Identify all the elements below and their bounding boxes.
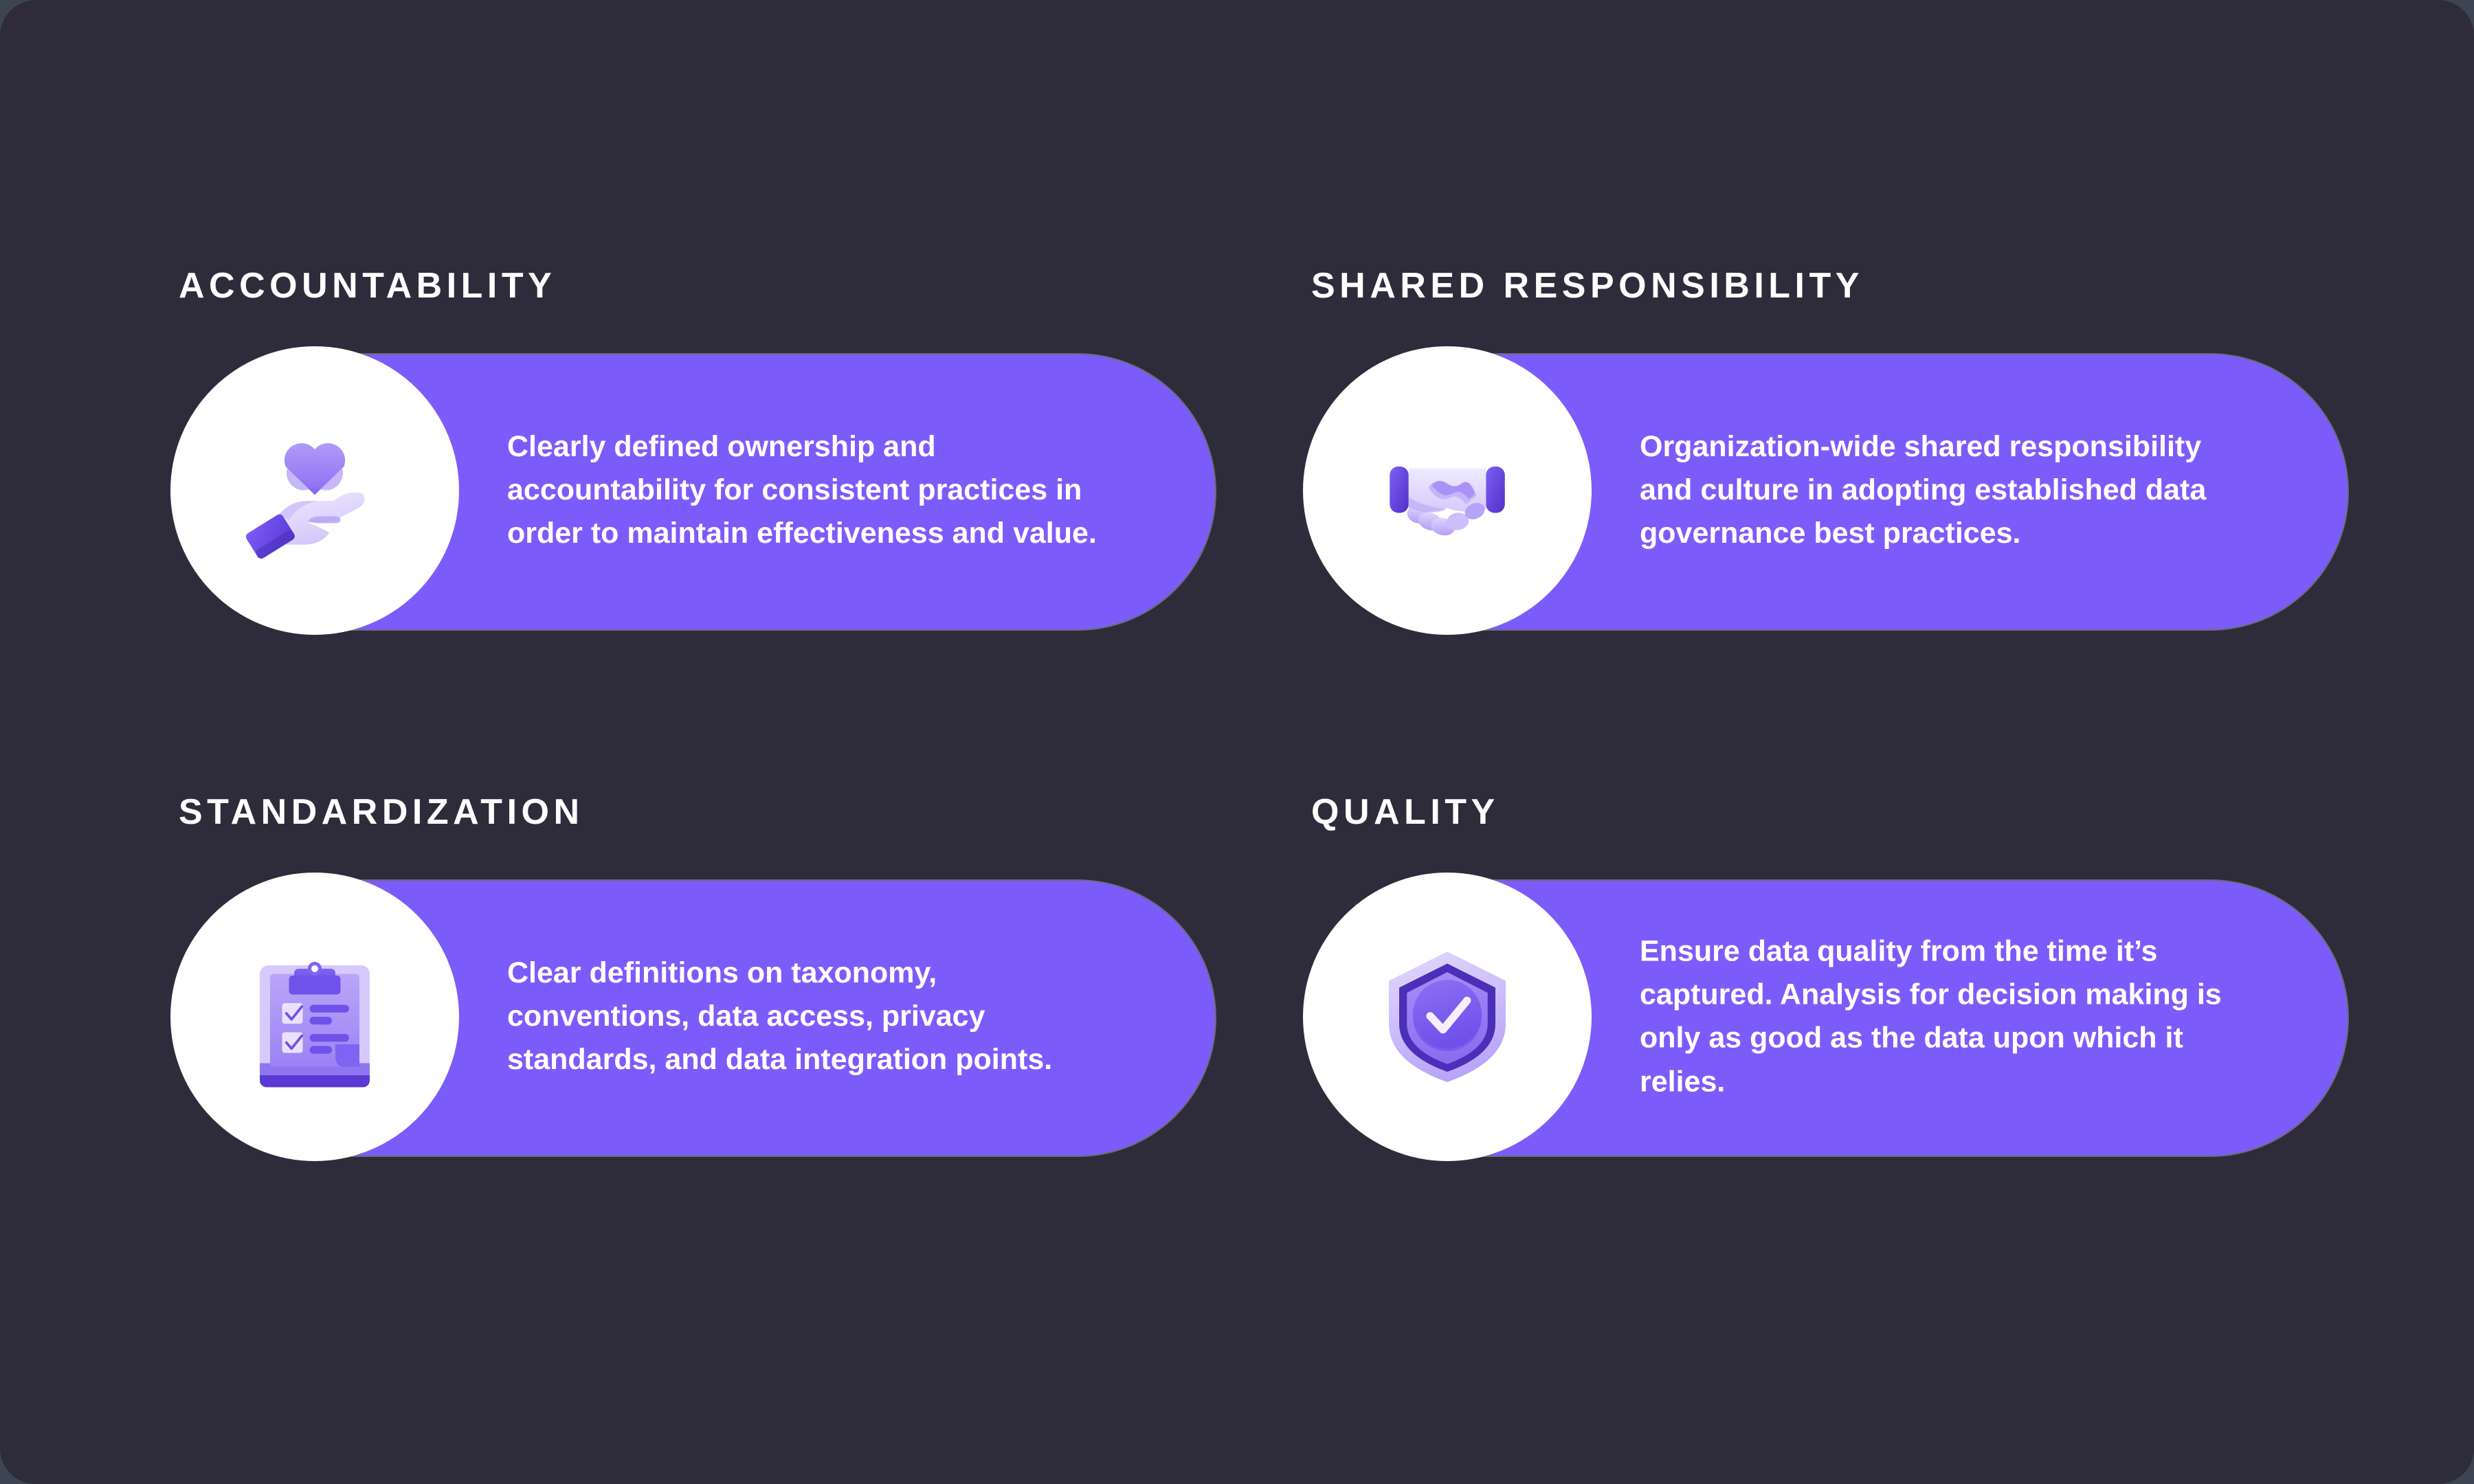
card-quality: QUALITY: [1303, 794, 2348, 1161]
card-title: QUALITY: [1311, 794, 2348, 830]
card-pill: Organization-wide shared responsibility …: [1303, 346, 2348, 635]
principles-grid: ACCOUNTABILITY: [170, 268, 2308, 1161]
icon-circle: [1303, 873, 1592, 1161]
card-body: Clear definitions on taxonomy, conventio…: [507, 952, 1126, 1082]
handshake-icon: [1361, 405, 1533, 576]
clipboard-checklist-icon: [229, 931, 401, 1103]
card-standardization: STANDARDIZATION: [170, 794, 1215, 1161]
shield-check-icon: [1361, 931, 1533, 1103]
card-title: STANDARDIZATION: [179, 794, 1215, 830]
card-body: Organization-wide shared responsibility …: [1640, 425, 2244, 556]
card-shared-responsibility: SHARED RESPONSIBILITY: [1303, 268, 2348, 635]
card-pill: Ensure data quality from the time it’s c…: [1303, 873, 2348, 1161]
card-title: ACCOUNTABILITY: [179, 268, 1215, 304]
card-pill: Clearly defined ownership and accountabi…: [170, 346, 1215, 635]
card-pill: Clear definitions on taxonomy, conventio…: [170, 873, 1215, 1161]
card-title: SHARED RESPONSIBILITY: [1311, 268, 2348, 304]
heart-in-hand-icon: [229, 405, 401, 576]
icon-circle: [170, 873, 459, 1161]
infographic-page: ACCOUNTABILITY: [0, 0, 2474, 1484]
icon-circle: [170, 346, 459, 635]
icon-circle: [1303, 346, 1592, 635]
card-body: Ensure data quality from the time it’s c…: [1640, 930, 2244, 1104]
card-accountability: ACCOUNTABILITY: [170, 268, 1215, 635]
card-body: Clearly defined ownership and accountabi…: [507, 425, 1126, 556]
